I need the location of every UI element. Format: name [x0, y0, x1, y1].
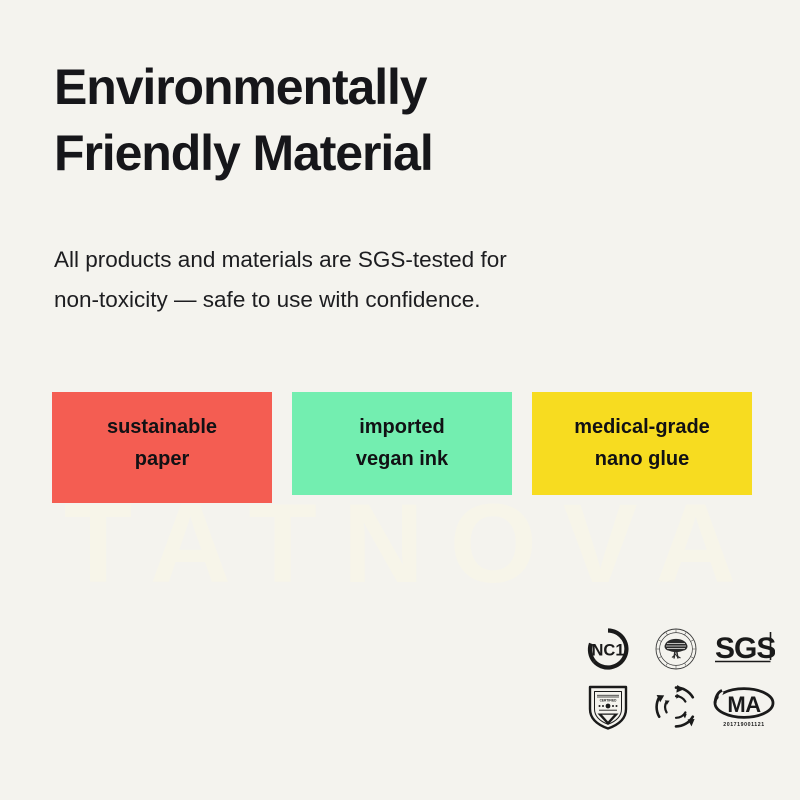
page-subtitle: All products and materials are SGS-teste…: [54, 186, 654, 320]
certification-badge-grid: NC1: [574, 620, 784, 736]
nc1-label: NC1: [591, 642, 624, 660]
cma-icon: MA 201719001121: [712, 679, 776, 735]
svg-text:CERTIFIED: CERTIFIED: [600, 699, 618, 703]
page-title-line-2: Friendly Material: [54, 120, 614, 186]
content-block: Environmentally Friendly Material All pr…: [54, 0, 800, 320]
material-chip-sustainable-paper: sustainable paper: [52, 392, 272, 503]
material-chip-label-line-1: sustainable: [60, 412, 264, 444]
page-title: Environmentally Friendly Material: [54, 0, 614, 186]
cma-label: MA: [727, 692, 761, 717]
forest-tree-icon: [644, 621, 708, 677]
recycle-icon: [644, 679, 708, 735]
page-subtitle-line-2: non-toxicity — safe to use with confiden…: [54, 280, 654, 320]
material-chip-vegan-ink: imported vegan ink: [292, 392, 512, 495]
material-chip-label-line-2: paper: [60, 444, 264, 476]
sgs-label: SGS: [715, 632, 775, 665]
cma-certificate-number: 201719001121: [723, 722, 765, 728]
material-chip-label-line-1: imported: [300, 412, 504, 444]
material-chip-label-line-2: nano glue: [540, 444, 744, 476]
page-subtitle-line-1: All products and materials are SGS-teste…: [54, 240, 654, 280]
material-chip-label-line-1: medical-grade: [540, 412, 744, 444]
nc1-icon: NC1: [576, 621, 640, 677]
page-title-line-1: Environmentally: [54, 54, 614, 120]
material-chip-nano-glue: medical-grade nano glue: [532, 392, 752, 495]
shield-icon: CERTIFIED: [576, 679, 640, 735]
material-chip-label-line-2: vegan ink: [300, 444, 504, 476]
sgs-icon: SGS: [712, 621, 776, 677]
brand-watermark: TATNOVA: [0, 488, 800, 600]
material-chip-group: sustainable paper imported vegan ink med…: [52, 392, 752, 503]
